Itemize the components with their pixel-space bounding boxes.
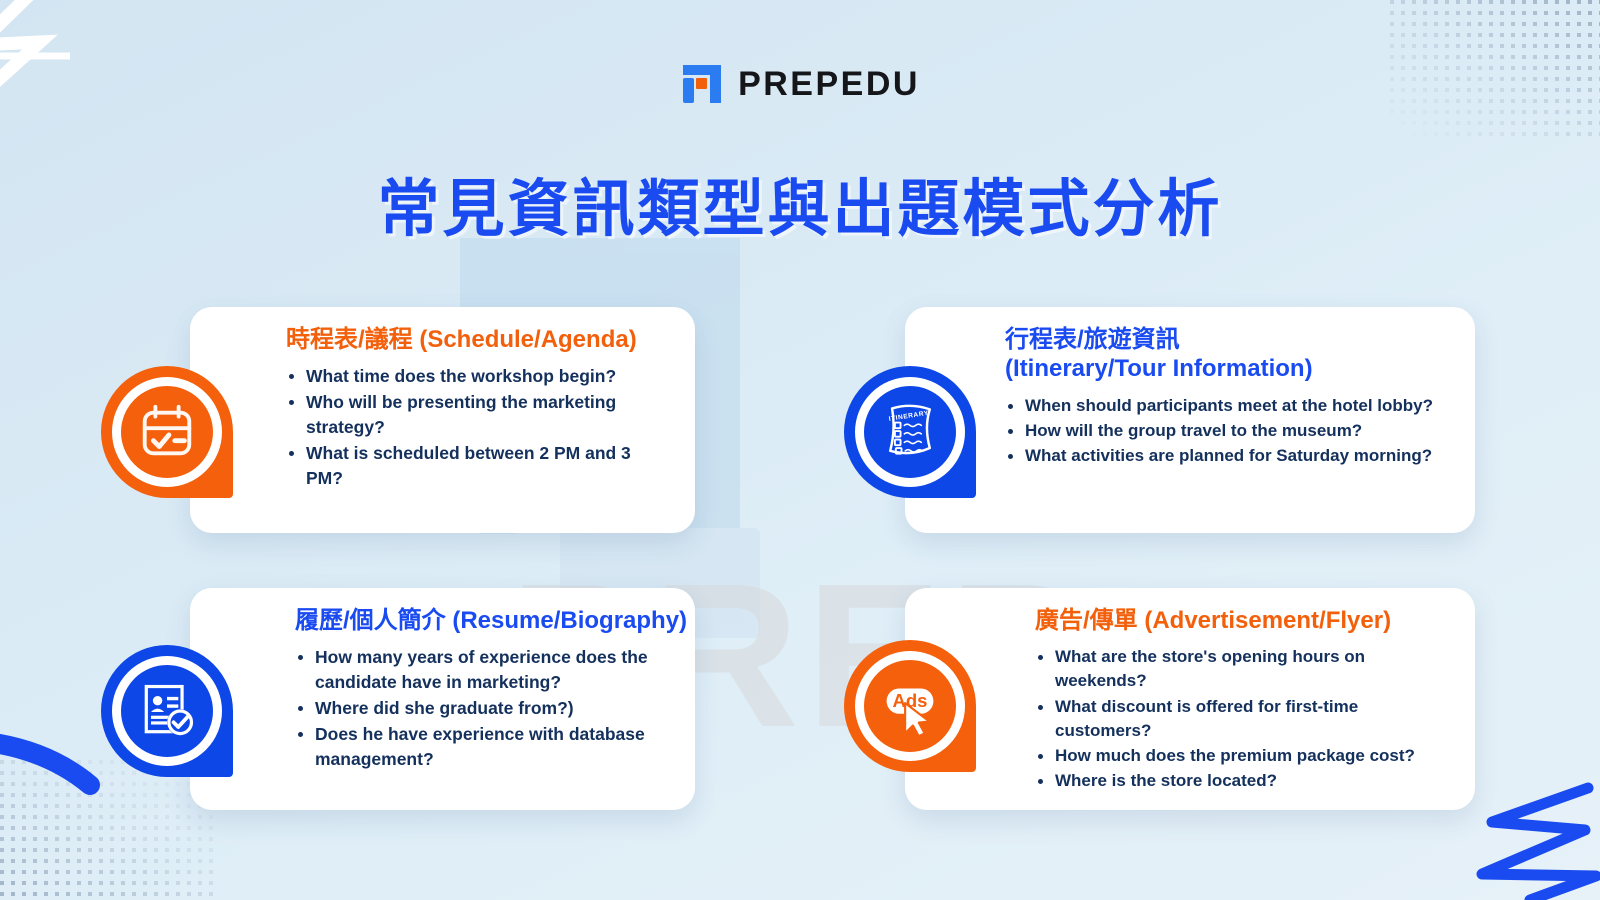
list-item: Does he have experience with database ma…: [295, 722, 669, 772]
left-blue-arc-decoration: [0, 730, 110, 840]
card-itinerary: 行程表/旅遊資訊 (Itinerary/Tour Information) Wh…: [905, 307, 1475, 533]
itinerary-checklist-icon: ITINERARY: [844, 366, 976, 498]
list-item: What are the store's opening hours on we…: [1035, 645, 1449, 693]
page-title: 常見資訊類型與出題模式分析: [0, 158, 1600, 248]
card-itinerary-title-line1: 行程表/旅遊資訊: [1005, 325, 1449, 354]
list-item: What activities are planned for Saturday…: [1005, 444, 1449, 468]
list-item: When should participants meet at the hot…: [1005, 394, 1449, 418]
card-itinerary-title: 行程表/旅遊資訊 (Itinerary/Tour Information): [1005, 325, 1449, 384]
list-item: How much does the premium package cost?: [1035, 744, 1449, 768]
ads-cursor-icon: Ads: [844, 640, 976, 772]
itinerary-paper-glyph: ITINERARY: [877, 399, 943, 465]
list-item: What is scheduled between 2 PM and 3 PM?: [286, 441, 669, 491]
card-advertisement-question-list: What are the store's opening hours on we…: [1035, 645, 1449, 793]
resume-check-icon: [101, 645, 233, 777]
list-item: What discount is offered for first-time …: [1035, 695, 1449, 743]
infographic-canvas: PREP PREPEDU 常見資訊類型與出題模式分析 時程表/議程 (Sched…: [0, 0, 1600, 900]
card-itinerary-title-line2: (Itinerary/Tour Information): [1005, 354, 1449, 383]
list-item: Who will be presenting the marketing str…: [286, 390, 669, 440]
list-item: How will the group travel to the museum?: [1005, 419, 1449, 443]
card-itinerary-question-list: When should participants meet at the hot…: [1005, 394, 1449, 468]
itinerary-paper-label: ITINERARY: [888, 410, 929, 423]
card-schedule: 時程表/議程 (Schedule/Agenda) What time does …: [190, 307, 695, 533]
prepedu-logo-mark-icon: [680, 62, 724, 106]
card-schedule-question-list: What time does the workshop begin? Who w…: [286, 364, 669, 490]
card-advertisement-title: 廣告/傳單 (Advertisement/Flyer): [1035, 606, 1449, 635]
brand-name: PREPEDU: [738, 65, 920, 104]
calendar-check-glyph: [136, 401, 198, 463]
resume-check-glyph: [135, 679, 199, 743]
card-schedule-title: 時程表/議程 (Schedule/Agenda): [286, 325, 669, 354]
ads-cursor-glyph: Ads: [871, 667, 949, 745]
card-resume-question-list: How many years of experience does the ca…: [295, 645, 669, 771]
brand-logo-row: PREPEDU: [0, 62, 1600, 106]
list-item: Where did she graduate from?): [295, 696, 669, 721]
card-resume: 履歷/個人簡介 (Resume/Biography) How many year…: [190, 588, 695, 810]
list-item: How many years of experience does the ca…: [295, 645, 669, 695]
bottom-left-dot-grid-decoration: [0, 760, 215, 900]
card-advertisement: 廣告/傳單 (Advertisement/Flyer) What are the…: [905, 588, 1475, 810]
card-resume-title: 履歷/個人簡介 (Resume/Biography): [295, 606, 669, 635]
list-item: Where is the store located?: [1035, 769, 1449, 793]
list-item: What time does the workshop begin?: [286, 364, 669, 389]
calendar-check-icon: [101, 366, 233, 498]
